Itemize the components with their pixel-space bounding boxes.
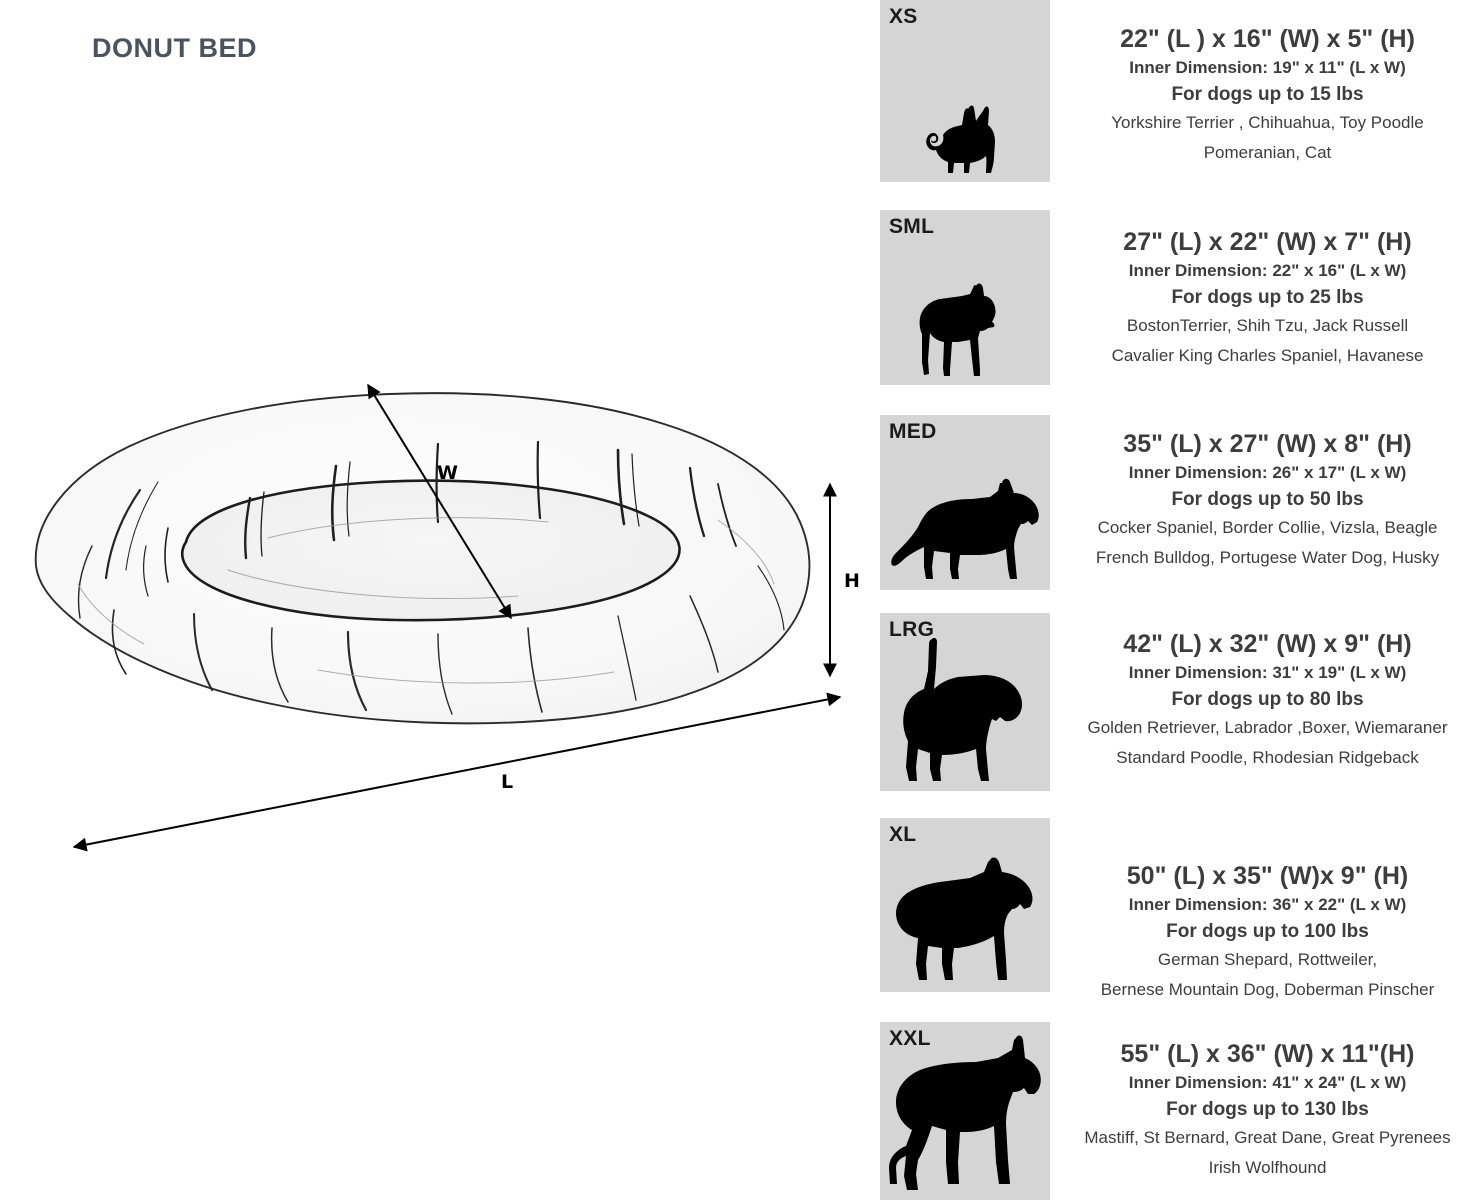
size-breeds-line-2: Pomeranian, Cat [1064,141,1471,166]
size-row-xl: XL 50" (L) x 35" (W)x 9" (H) Inner Dimen… [880,818,1481,1003]
size-tile-xs: XS [880,0,1050,182]
size-chart-list: XS 22" (L ) x 16" (W) x 5" (H) Inner Dim… [880,0,1481,1200]
size-dimensions: 50" (L) x 35" (W)x 9" (H) [1064,862,1471,891]
size-inner-dimensions: Inner Dimension: 36" x 22" (L x W) [1064,894,1471,916]
size-inner-dimensions: Inner Dimension: 41" x 24" (L x W) [1064,1072,1471,1094]
size-tile-xxl: XXL [880,1022,1050,1200]
size-weight-limit: For dogs up to 100 lbs [1064,920,1471,944]
bed-inner-well [182,481,679,621]
great-dane-silhouette [888,1034,1044,1198]
size-breeds-line-2: French Bulldog, Portugese Water Dog, Hus… [1064,546,1471,571]
yorkshire-terrier-silhouette [924,103,998,175]
size-inner-dimensions: Inner Dimension: 26" x 17" (L x W) [1064,462,1471,484]
size-breeds-line-1: Cocker Spaniel, Border Collie, Vizsla, B… [1064,516,1471,541]
size-row-xs: XS 22" (L ) x 16" (W) x 5" (H) Inner Dim… [880,0,1481,182]
size-breeds-line-2: Cavalier King Charles Spaniel, Havanese [1064,344,1471,369]
size-dimensions: 42" (L) x 32" (W) x 9" (H) [1064,630,1471,659]
size-dimensions: 22" (L ) x 16" (W) x 5" (H) [1064,25,1471,54]
size-info-sml: 27" (L) x 22" (W) x 7" (H) Inner Dimensi… [1050,210,1481,369]
size-tile-lrg: LRG [880,613,1050,791]
size-info-xs: 22" (L ) x 16" (W) x 5" (H) Inner Dimens… [1050,0,1481,166]
height-label: H [844,570,860,592]
size-code-label: XS [889,5,918,29]
size-weight-limit: For dogs up to 80 lbs [1064,688,1471,712]
size-tile-xl: XL [880,818,1050,992]
size-code-label: MED [889,420,937,444]
size-info-lrg: 42" (L) x 32" (W) x 9" (H) Inner Dimensi… [1050,613,1481,771]
size-inner-dimensions: Inner Dimension: 31" x 19" (L x W) [1064,662,1471,684]
size-breeds-line-2: Bernese Mountain Dog, Doberman Pinscher [1064,978,1471,1003]
illustration-panel: DONUT BED [0,0,880,1200]
golden-retriever-silhouette [894,856,1034,986]
size-row-sml: SML 27" (L) x 22" (W) x 7" (H) Inner Dim… [880,210,1481,385]
size-inner-dimensions: Inner Dimension: 22" x 16" (L x W) [1064,260,1471,282]
size-row-xxl: XXL 55" (L) x 36" (W) x 11"(H) Inner Dim… [880,1022,1481,1200]
size-dimensions: 35" (L) x 27" (W) x 8" (H) [1064,430,1471,459]
size-weight-limit: For dogs up to 50 lbs [1064,488,1471,512]
size-info-xl: 50" (L) x 35" (W)x 9" (H) Inner Dimensio… [1050,818,1481,1003]
size-info-med: 35" (L) x 27" (W) x 8" (H) Inner Dimensi… [1050,415,1481,571]
size-tile-sml: SML [880,210,1050,385]
size-code-label: XXL [889,1027,931,1051]
size-weight-limit: For dogs up to 25 lbs [1064,286,1471,310]
size-row-lrg: LRG 42" (L) x 32" (W) x 9" (H) Inner Dim… [880,613,1481,791]
size-weight-limit: For dogs up to 130 lbs [1064,1098,1471,1122]
labrador-silhouette [896,637,1026,785]
donut-bed-illustration [18,370,838,730]
page-title: DONUT BED [92,33,257,64]
size-tile-med: MED [880,415,1050,590]
size-breeds-line-1: German Shepard, Rottweiler, [1064,948,1471,973]
size-weight-limit: For dogs up to 15 lbs [1064,83,1471,107]
size-dimensions: 55" (L) x 36" (W) x 11"(H) [1064,1040,1471,1069]
size-breeds-line-2: Irish Wolfhound [1064,1156,1471,1181]
size-row-med: MED 35" (L) x 27" (W) x 8" (H) Inner Dim… [880,415,1481,590]
size-dimensions: 27" (L) x 22" (W) x 7" (H) [1064,228,1471,257]
size-code-label: LRG [889,618,934,642]
size-code-label: SML [889,215,934,239]
boston-terrier-silhouette [918,282,1002,378]
size-breeds-line-1: Yorkshire Terrier , Chihuahua, Toy Poodl… [1064,111,1471,136]
size-breeds-line-1: Mastiff, St Bernard, Great Dane, Great P… [1064,1126,1471,1151]
size-code-label: XL [889,823,916,847]
width-label: W [437,462,458,484]
size-inner-dimensions: Inner Dimension: 19" x 11" (L x W) [1064,57,1471,79]
size-breeds-line-1: Golden Retriever, Labrador ,Boxer, Wiema… [1064,716,1471,741]
length-label: L [501,771,513,793]
border-collie-silhouette [890,477,1040,585]
size-breeds-line-2: Standard Poodle, Rhodesian Ridgeback [1064,746,1471,771]
size-breeds-line-1: BostonTerrier, Shih Tzu, Jack Russell [1064,314,1471,339]
size-info-xxl: 55" (L) x 36" (W) x 11"(H) Inner Dimensi… [1050,1022,1481,1181]
